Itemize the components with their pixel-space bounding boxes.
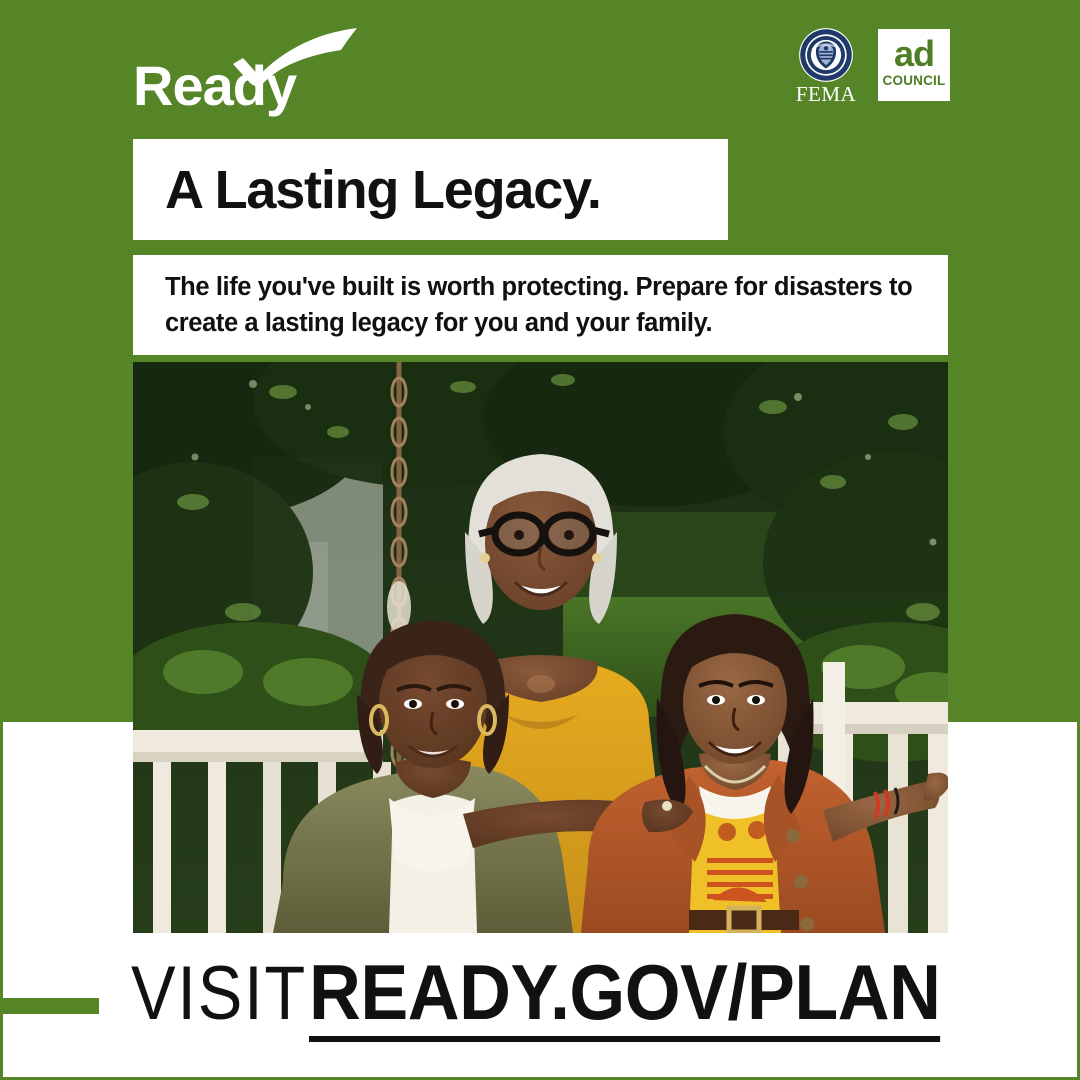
ready-logo[interactable]: Ready bbox=[133, 26, 373, 116]
ready-campaign-poster: Ready FEMA ad COUNCIL A Lasting Legacy. … bbox=[0, 0, 1080, 1080]
cta-visit-url[interactable]: VISIT READY.GOV/PLAN bbox=[131, 953, 971, 1029]
fema-label: FEMA bbox=[793, 84, 859, 105]
ad-council-logo[interactable]: ad COUNCIL bbox=[878, 29, 950, 101]
headline-band: A Lasting Legacy. bbox=[133, 139, 728, 240]
dhs-seal-icon bbox=[798, 27, 854, 83]
ad-council-council-text: COUNCIL bbox=[878, 74, 950, 88]
subhead-text: The life you've built is worth protectin… bbox=[165, 269, 930, 341]
ready-wordmark: Ready bbox=[133, 58, 296, 114]
family-portrait-photo bbox=[133, 362, 948, 933]
page-title: A Lasting Legacy. bbox=[165, 163, 601, 217]
fema-logo[interactable]: FEMA bbox=[793, 27, 859, 105]
ad-council-ad-text: ad bbox=[878, 36, 950, 72]
subhead-band: The life you've built is worth protectin… bbox=[133, 255, 948, 355]
cta-url-link[interactable]: READY.GOV/PLAN bbox=[309, 953, 941, 1042]
cta-visit-label: VISIT bbox=[131, 956, 307, 1032]
cta-green-dash bbox=[0, 998, 99, 1014]
